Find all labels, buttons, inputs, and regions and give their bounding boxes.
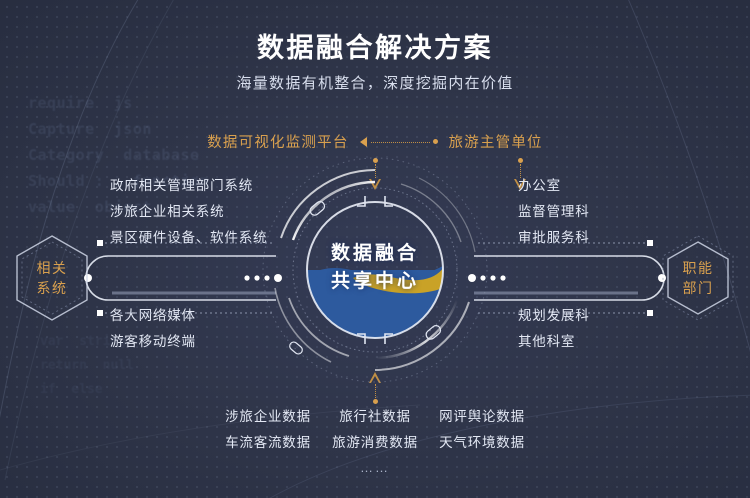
bottom-row-1: 涉旅企业数据 旅行社数据 网评舆论数据 bbox=[215, 404, 536, 430]
hexagon-related-systems[interactable]: 相关 系统 bbox=[13, 233, 91, 323]
list-item: 网评舆论数据 bbox=[429, 404, 536, 430]
hexagon-label-line1: 相关 bbox=[37, 258, 68, 278]
infographic-canvas: require js Capture json Category databas… bbox=[0, 0, 750, 498]
hexagon-label-line2: 部门 bbox=[683, 278, 714, 298]
hexagon-functional-departments[interactable]: 职能 部门 bbox=[659, 233, 737, 323]
hub-label: 数据融合 共享中心 bbox=[253, 240, 497, 296]
hexagon-label-line1: 职能 bbox=[683, 258, 714, 278]
bottom-row-2: 车流客流数据 旅游消费数据 天气环境数据 bbox=[215, 430, 536, 456]
list-item: 旅行社数据 bbox=[322, 404, 429, 430]
list-item: 旅游消费数据 bbox=[322, 430, 429, 456]
hub-label-line1: 数据融合 bbox=[253, 240, 497, 268]
central-hub[interactable]: 数据融合 共享中心 bbox=[253, 148, 497, 392]
list-item: 涉旅企业数据 bbox=[215, 404, 322, 430]
list-item: 车流客流数据 bbox=[215, 430, 322, 456]
hexagon-label-line2: 系统 bbox=[37, 278, 68, 298]
hub-label-line2: 共享中心 bbox=[253, 268, 497, 296]
ellipsis-label: …… bbox=[360, 460, 390, 475]
bottom-data-labels: 涉旅企业数据 旅行社数据 网评舆论数据 车流客流数据 旅游消费数据 天气环境数据… bbox=[0, 404, 750, 475]
hexagon-label: 职能 部门 bbox=[659, 233, 737, 323]
hexagon-label: 相关 系统 bbox=[13, 233, 91, 323]
list-item: 天气环境数据 bbox=[429, 430, 536, 456]
